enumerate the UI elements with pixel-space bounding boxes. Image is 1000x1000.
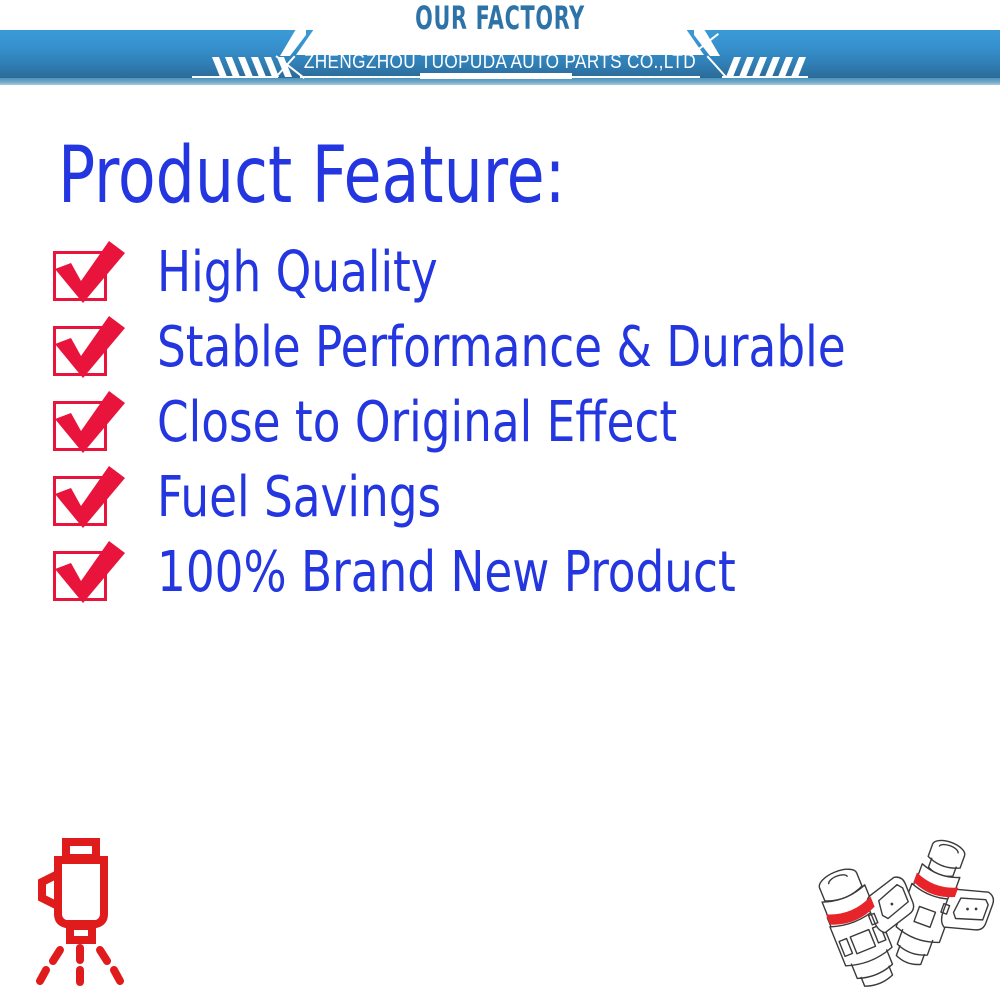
fuel-injector-spray-icon (34, 836, 144, 986)
list-item: 100% Brand New Product (0, 547, 1000, 622)
list-item-label: Fuel Savings (157, 463, 441, 533)
list-item: Stable Performance & Durable (0, 322, 1000, 397)
list-item-label: Close to Original Effect (157, 388, 677, 458)
header-subtitle-underline (420, 73, 572, 79)
page-title: Product Feature: (58, 133, 565, 219)
list-item: Close to Original Effect (0, 397, 1000, 472)
check-icon (49, 239, 129, 309)
check-icon (49, 464, 129, 534)
fuel-injector-pair-line-art (806, 832, 996, 994)
check-icon (49, 539, 129, 609)
list-item-label: High Quality (157, 238, 438, 308)
company-name: ZHENGZHOU TUOPUDA AUTO PARTS CO.,LTD (70, 52, 930, 72)
list-item-label: 100% Brand New Product (157, 538, 736, 608)
header-bottom-strip (0, 78, 1000, 85)
check-icon (49, 314, 129, 384)
company-heading: OUR FACTORY (140, 2, 860, 34)
check-icon (49, 389, 129, 459)
list-item: High Quality (0, 247, 1000, 322)
list-item-label: Stable Performance & Durable (157, 313, 846, 383)
site-header: OUR FACTORY ZHENGZHOU TUOPUDA AUTO PARTS… (0, 0, 1000, 85)
feature-list: High Quality Stable Performance & Durabl… (0, 247, 1000, 622)
list-item: Fuel Savings (0, 472, 1000, 547)
